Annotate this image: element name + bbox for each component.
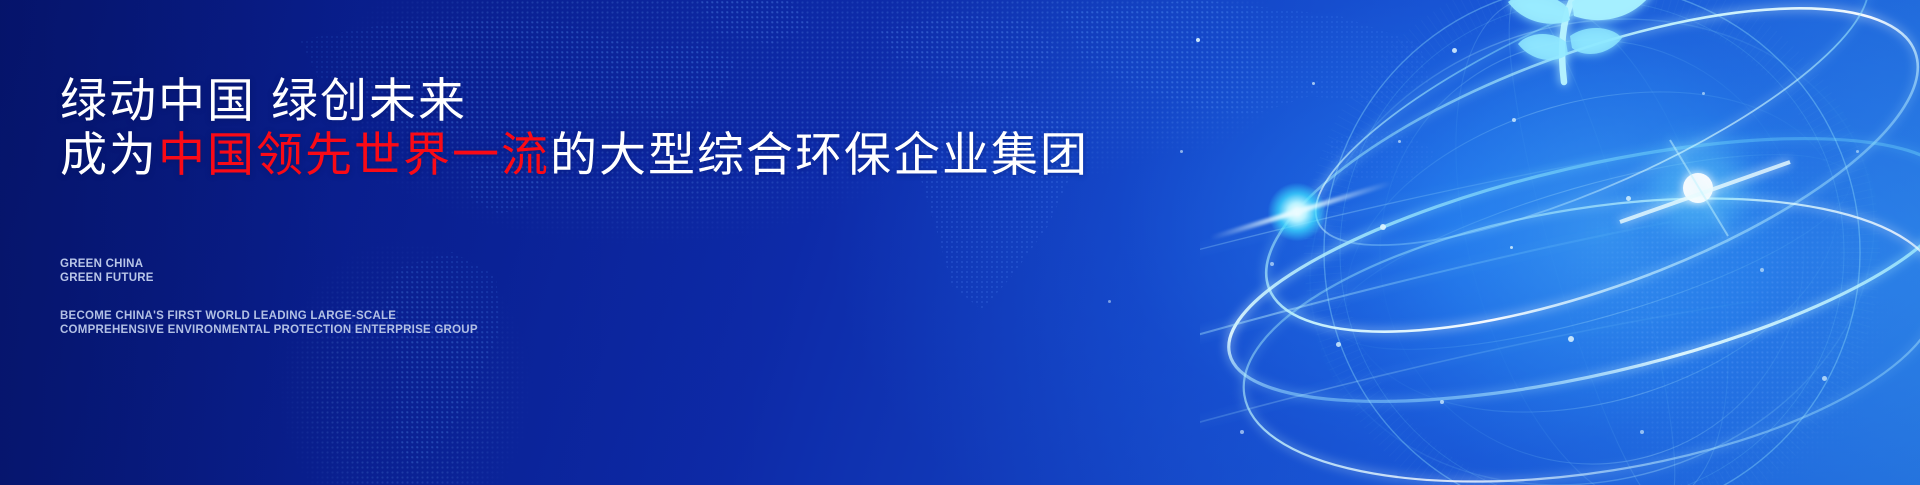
tagline-english-line-1: BECOME CHINA'S FIRST WORLD LEADING LARGE…	[60, 310, 478, 324]
copy-block: 绿动中国 绿创未来 成为中国领先世界一流的大型综合环保企业集团 GREEN CH…	[60, 0, 1160, 485]
headline-suffix: 的大型综合环保企业集团	[550, 128, 1089, 181]
subtitle-english-line-1: GREEN CHINA	[60, 258, 154, 272]
headline-line-2: 成为中国领先世界一流的大型综合环保企业集团	[60, 128, 1089, 182]
headline-line-1: 绿动中国 绿创未来	[60, 74, 467, 128]
sprout-leaf-emblem	[1508, 0, 1654, 82]
headline-prefix: 成为	[60, 128, 158, 181]
subtitle-english: GREEN CHINA GREEN FUTURE	[60, 258, 154, 285]
headline-highlight: 中国领先世界一流	[158, 128, 550, 181]
light-burst	[1620, 140, 1790, 236]
subtitle-english-line-2: GREEN FUTURE	[60, 272, 154, 286]
promo-banner: 绿动中国 绿创未来 成为中国领先世界一流的大型综合环保企业集团 GREEN CH…	[0, 0, 1920, 485]
wireframe-globe	[1200, 0, 1920, 485]
tagline-english: BECOME CHINA'S FIRST WORLD LEADING LARGE…	[60, 310, 478, 337]
globe-core-glow	[1268, 183, 1326, 241]
tagline-english-line-2: COMPREHENSIVE ENVIRONMENTAL PROTECTION E…	[60, 324, 478, 338]
